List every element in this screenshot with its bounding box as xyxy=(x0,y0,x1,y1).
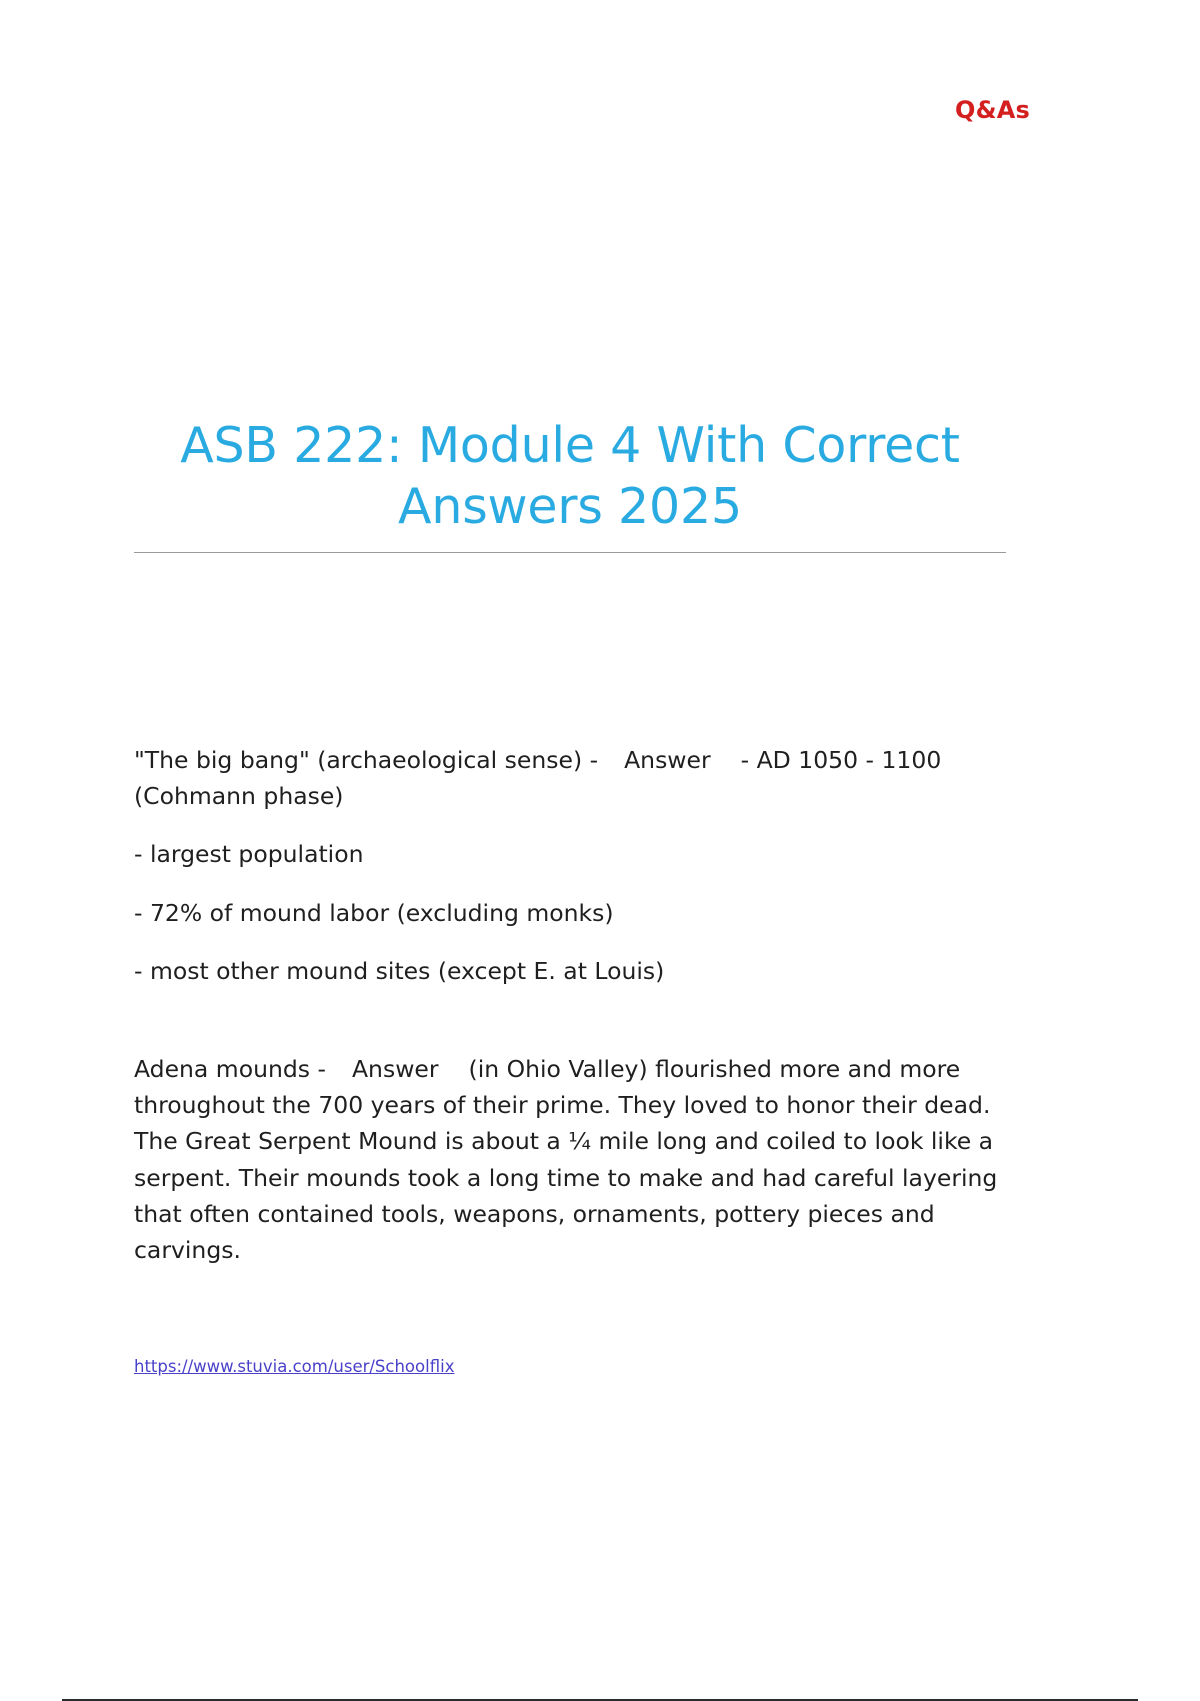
document-body: "The big bang" (archaeological sense) -A… xyxy=(134,742,1006,1268)
document-page: Q&As ASB 222: Module 4 With Correct Answ… xyxy=(0,0,1200,1700)
qa-answer-2: (in Ohio Valley) flourished more and mor… xyxy=(134,1055,997,1264)
title-block: ASB 222: Module 4 With Correct Answers 2… xyxy=(134,415,1006,561)
qa-answer-label-1: Answer xyxy=(624,746,711,774)
bullet-line-1: - largest population xyxy=(134,836,1006,872)
qa-entry-2: Adena mounds -Answer(in Ohio Valley) flo… xyxy=(134,1051,1006,1268)
source-profile-link[interactable]: https://www.stuvia.com/user/Schoolflix xyxy=(134,1357,454,1376)
qas-badge: Q&As xyxy=(955,96,1030,124)
qa-entry-1: "The big bang" (archaeological sense) -A… xyxy=(134,742,1006,814)
qa-term-2: Adena mounds - xyxy=(134,1055,326,1083)
page-title: ASB 222: Module 4 With Correct Answers 2… xyxy=(134,415,1006,538)
title-divider xyxy=(134,552,1006,553)
qa-term-1: "The big bang" (archaeological sense) - xyxy=(134,746,598,774)
bullet-line-2: - 72% of mound labor (excluding monks) xyxy=(134,895,1006,931)
qa-answer-label-2: Answer xyxy=(352,1055,439,1083)
bullet-line-3: - most other mound sites (except E. at L… xyxy=(134,953,1006,989)
